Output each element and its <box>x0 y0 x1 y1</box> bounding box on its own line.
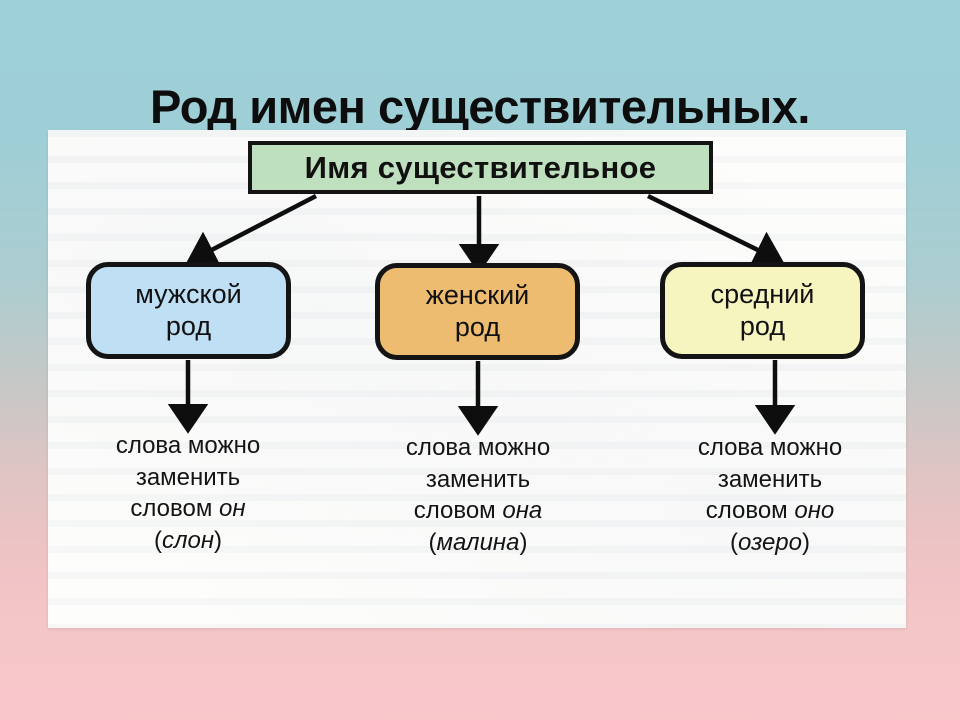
rule-feminine-paren-open: ( <box>429 529 437 556</box>
node-neuter-label-line1: средний <box>711 279 815 309</box>
rule-feminine-paren-close: ) <box>519 529 527 556</box>
rule-feminine-line1: слова можно <box>406 434 550 461</box>
rule-text-neuter: слова можно заменить словом оно (озеро) <box>640 432 900 559</box>
rule-neuter-paren-close: ) <box>802 529 810 556</box>
node-feminine-label-line2: род <box>455 312 500 342</box>
node-neuter-label: средний род <box>711 279 815 343</box>
node-neuter-gender: средний род <box>660 262 865 359</box>
rule-text-feminine: слова можно заменить словом она (малина) <box>348 432 608 559</box>
rule-feminine-example: малина <box>437 529 520 556</box>
node-noun-label: Имя существительное <box>305 150 657 186</box>
node-masculine-label: мужской род <box>135 279 241 343</box>
node-masculine-gender: мужской род <box>86 262 291 359</box>
node-neuter-label-line2: род <box>740 311 785 341</box>
node-feminine-label: женский род <box>426 280 529 344</box>
rule-masculine-line1: слова можно <box>116 432 260 459</box>
rule-masculine-example: слон <box>162 527 214 554</box>
rule-neuter-line2: заменить <box>718 466 822 493</box>
node-noun: Имя существительное <box>248 141 713 194</box>
rule-text-masculine: слова можно заменить словом он (слон) <box>58 430 318 557</box>
arrow-root-to-masculine <box>200 196 316 256</box>
node-feminine-label-line1: женский <box>426 280 529 310</box>
diagram-card: Имя существительное мужской род женский … <box>48 130 906 628</box>
node-masculine-label-line2: род <box>166 311 211 341</box>
arrow-root-to-neuter <box>648 196 770 256</box>
node-feminine-gender: женский род <box>375 263 580 360</box>
rule-neuter-paren-open: ( <box>730 529 738 556</box>
rule-neuter-example: озеро <box>738 529 802 556</box>
rule-feminine-line3-prefix: словом <box>414 497 503 524</box>
rule-masculine-pronoun: он <box>219 495 246 522</box>
rule-feminine-line2: заменить <box>426 466 530 493</box>
rule-masculine-line3-prefix: словом <box>130 495 219 522</box>
rule-neuter-pronoun: оно <box>794 497 834 524</box>
rule-neuter-line1: слова можно <box>698 434 842 461</box>
rule-masculine-paren-open: ( <box>154 527 162 554</box>
page-title: Род имен существительных. <box>0 83 960 130</box>
rule-masculine-line2: заменить <box>136 464 240 491</box>
rule-feminine-pronoun: она <box>502 497 542 524</box>
node-masculine-label-line1: мужской <box>135 279 241 309</box>
rule-neuter-line3-prefix: словом <box>706 497 795 524</box>
rule-masculine-paren-close: ) <box>214 527 222 554</box>
